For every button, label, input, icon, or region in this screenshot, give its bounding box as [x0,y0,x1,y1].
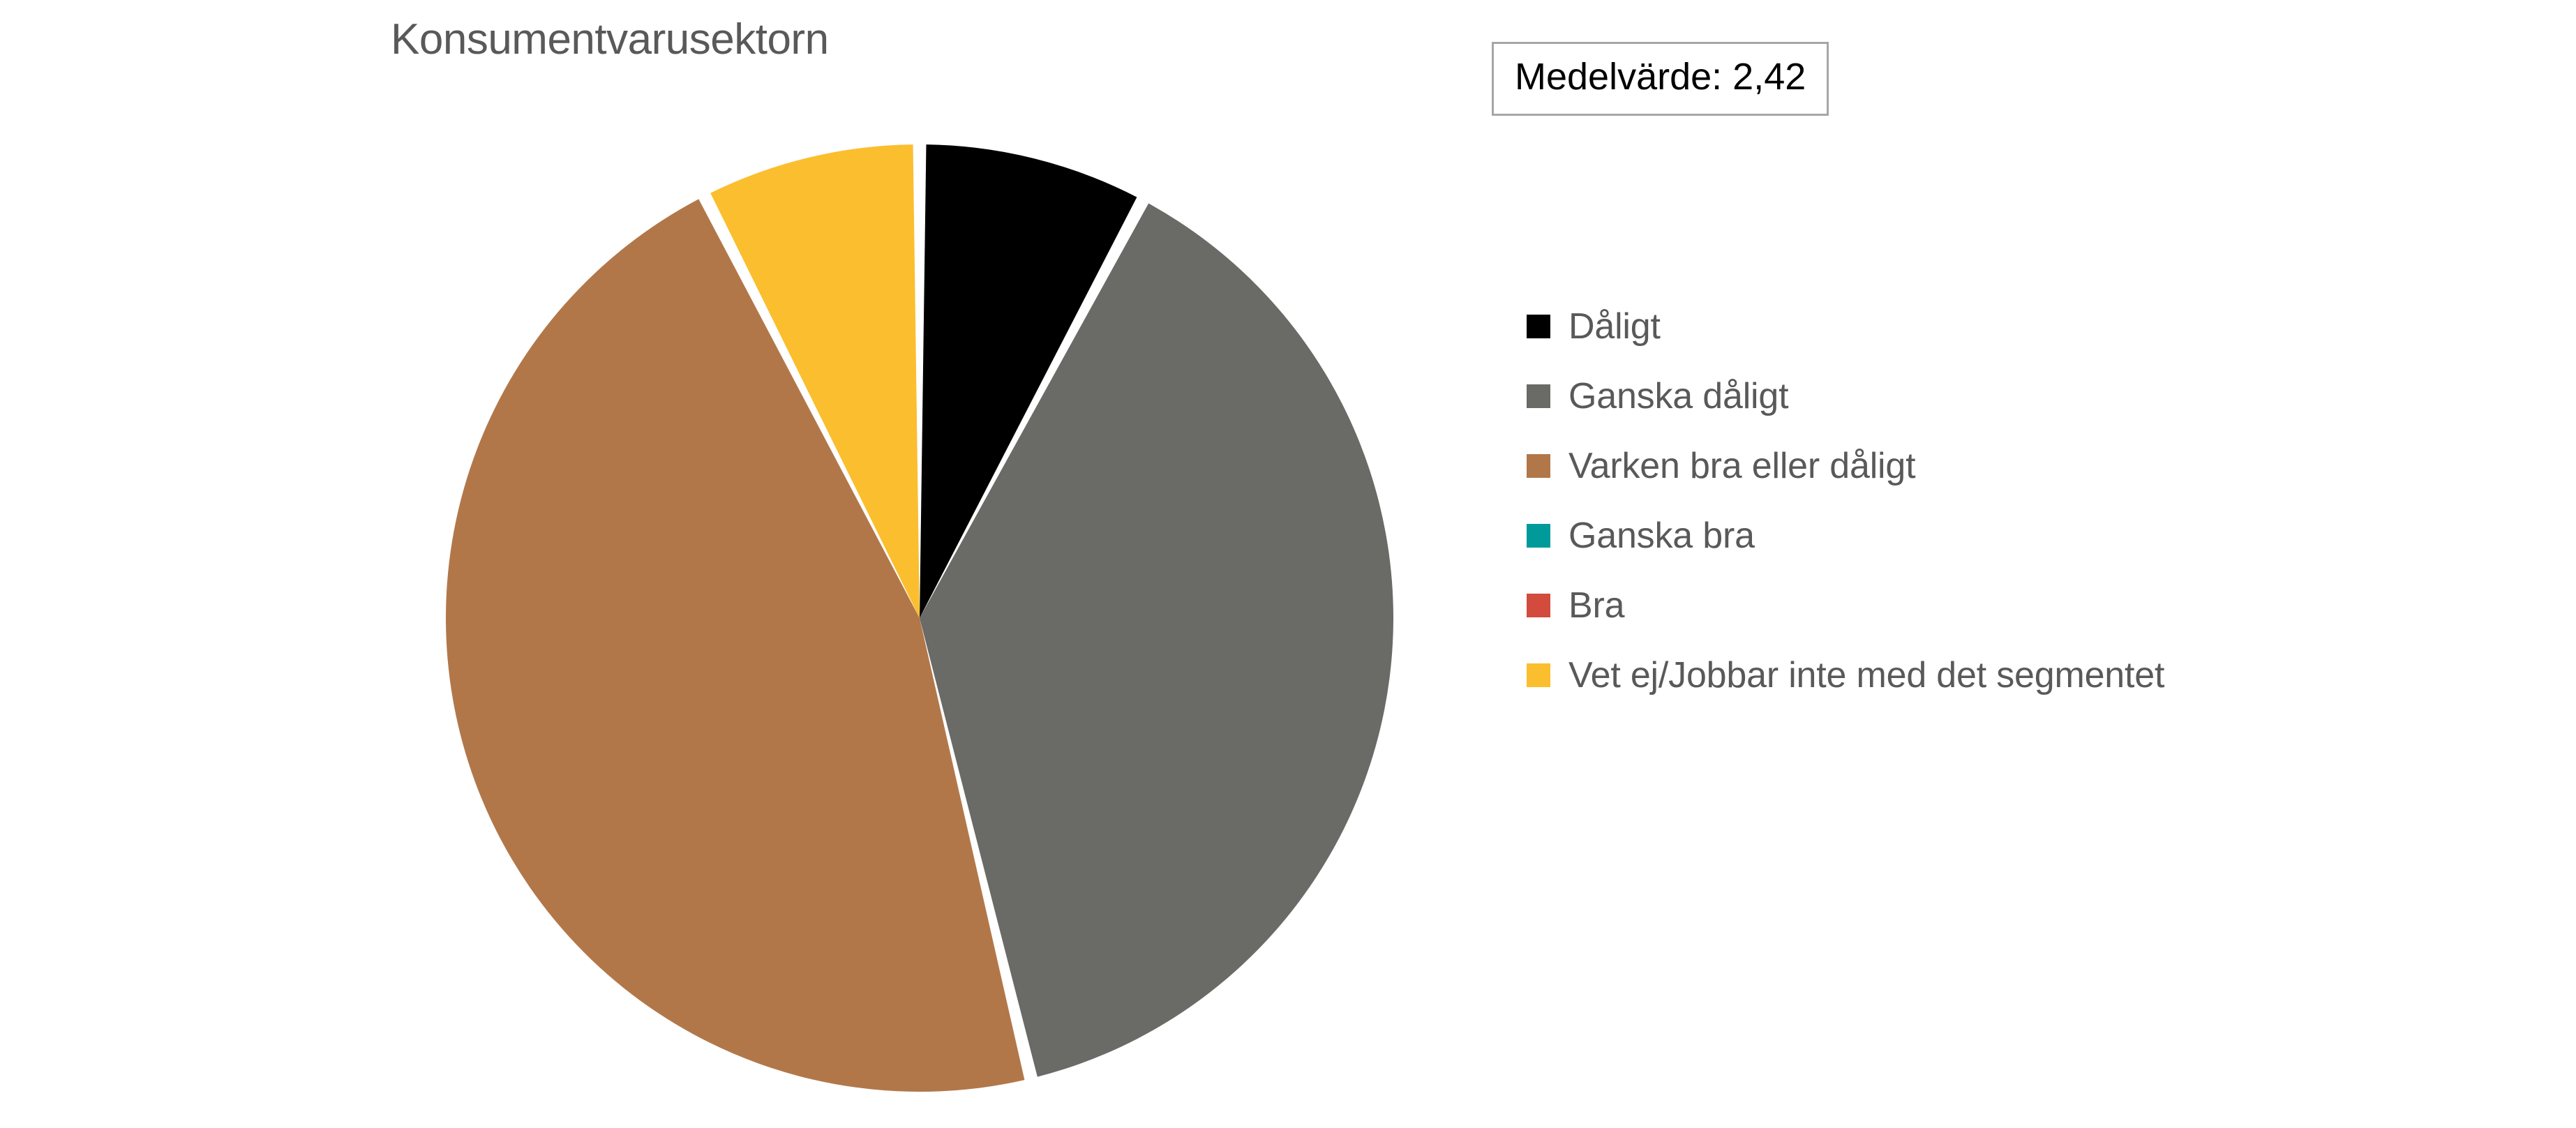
legend-item-label: Varken bra eller dåligt [1568,448,1915,484]
legend-item-label: Vet ej/Jobbar inte med det segmentet [1568,657,2164,693]
legend-item-label: Ganska bra [1568,518,1755,554]
mean-value-callout: Medelvärde: 2,42 [1492,42,1829,116]
chart-legend: DåligtGanska dåligtVarken bra eller dåli… [1527,292,2531,710]
legend-item[interactable]: Dåligt [1527,292,2531,361]
legend-item[interactable]: Varken bra eller dåligt [1527,431,2531,501]
pie-chart-plot-area [0,0,1479,1128]
mean-value-text: Medelvärde: 2,42 [1515,57,1806,97]
legend-item-label: Ganska dåligt [1568,378,1788,414]
legend-swatch-icon [1527,384,1550,408]
legend-item[interactable]: Bra [1527,571,2531,640]
legend-swatch-icon [1527,594,1550,617]
legend-item[interactable]: Ganska bra [1527,501,2531,571]
legend-item-label: Dåligt [1568,308,1661,345]
legend-item[interactable]: Ganska dåligt [1527,361,2531,431]
legend-swatch-icon [1527,524,1550,548]
legend-swatch-icon [1527,663,1550,687]
pie-chart-slide: Konsumentvarusektorn Medelvärde: 2,42 Då… [0,0,2576,1128]
legend-item-label: Bra [1568,587,1624,624]
pie-chart-svg [0,0,1479,1128]
legend-item[interactable]: Vet ej/Jobbar inte med det segmentet [1527,640,2531,710]
legend-swatch-icon [1527,454,1550,478]
legend-swatch-icon [1527,315,1550,338]
